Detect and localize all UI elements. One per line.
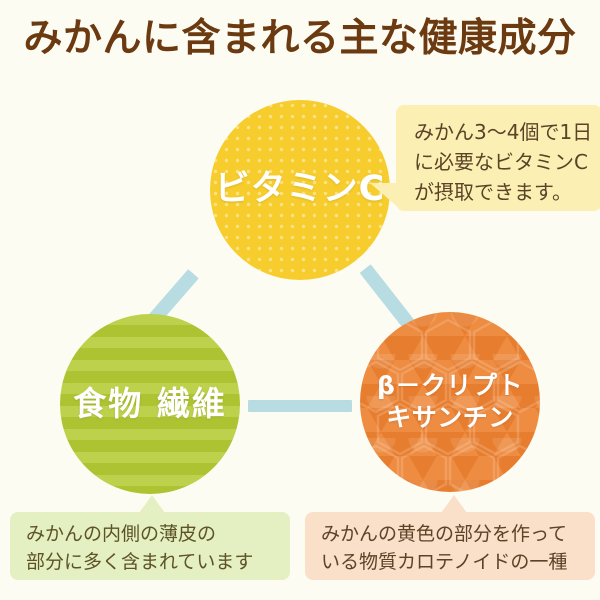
callout-dietary-fiber-tail — [139, 495, 165, 513]
callout-dietary-fiber: みかんの内側の薄皮の 部分に多く含まれています — [10, 512, 290, 580]
node-beta-cryptoxanthin-label-line2: キサンチン — [386, 403, 514, 432]
stripe-texture — [60, 314, 240, 494]
node-vitamin-c[interactable]: ビタミンC — [210, 100, 390, 280]
polka-dot-texture — [210, 100, 390, 280]
callout-vitamin-c: みかん3〜4個で1日 に必要なビタミンC が摂取できます。 — [396, 105, 600, 211]
honeycomb-overlay-icon — [360, 312, 540, 492]
honeycomb-texture — [360, 312, 540, 492]
page-title: みかんに含まれる主な健康成分 — [0, 18, 600, 61]
node-beta-cryptoxanthin[interactable]: β－クリプト キサンチン — [360, 312, 540, 492]
node-beta-cryptoxanthin-label-line1: β－クリプト — [377, 371, 523, 400]
callout-dietary-fiber-line1: みかんの内側の薄皮の — [26, 521, 290, 549]
callout-vitamin-c-line2: に必要なビタミンC — [414, 147, 600, 177]
callout-dietary-fiber-line2: 部分に多く含まれています — [26, 549, 290, 577]
callout-vitamin-c-line1: みかん3〜4個で1日 — [414, 117, 600, 147]
infographic-canvas: みかんに含まれる主な健康成分 ビタミンC 食物 繊維 — [0, 0, 600, 600]
node-beta-cryptoxanthin-label: β－クリプト キサンチン — [360, 370, 540, 434]
callout-beta-cryptoxanthin-tail — [441, 495, 467, 513]
connector-fiber-to-cryptoxanthin — [248, 400, 352, 412]
node-dietary-fiber[interactable]: 食物 繊維 — [60, 314, 240, 494]
callout-beta-cryptoxanthin: みかんの黄色の部分を作って いる物質カロテノイドの一種 — [305, 512, 595, 580]
callout-vitamin-c-tail — [370, 183, 400, 209]
node-dietary-fiber-label: 食物 繊維 — [73, 386, 227, 423]
callout-beta-cryptoxanthin-line1: みかんの黄色の部分を作って — [321, 521, 595, 549]
callout-vitamin-c-line3: が摂取できます。 — [414, 177, 600, 207]
callout-beta-cryptoxanthin-line2: いる物質カロテノイドの一種 — [321, 549, 595, 577]
node-vitamin-c-label: ビタミンC — [215, 170, 386, 209]
